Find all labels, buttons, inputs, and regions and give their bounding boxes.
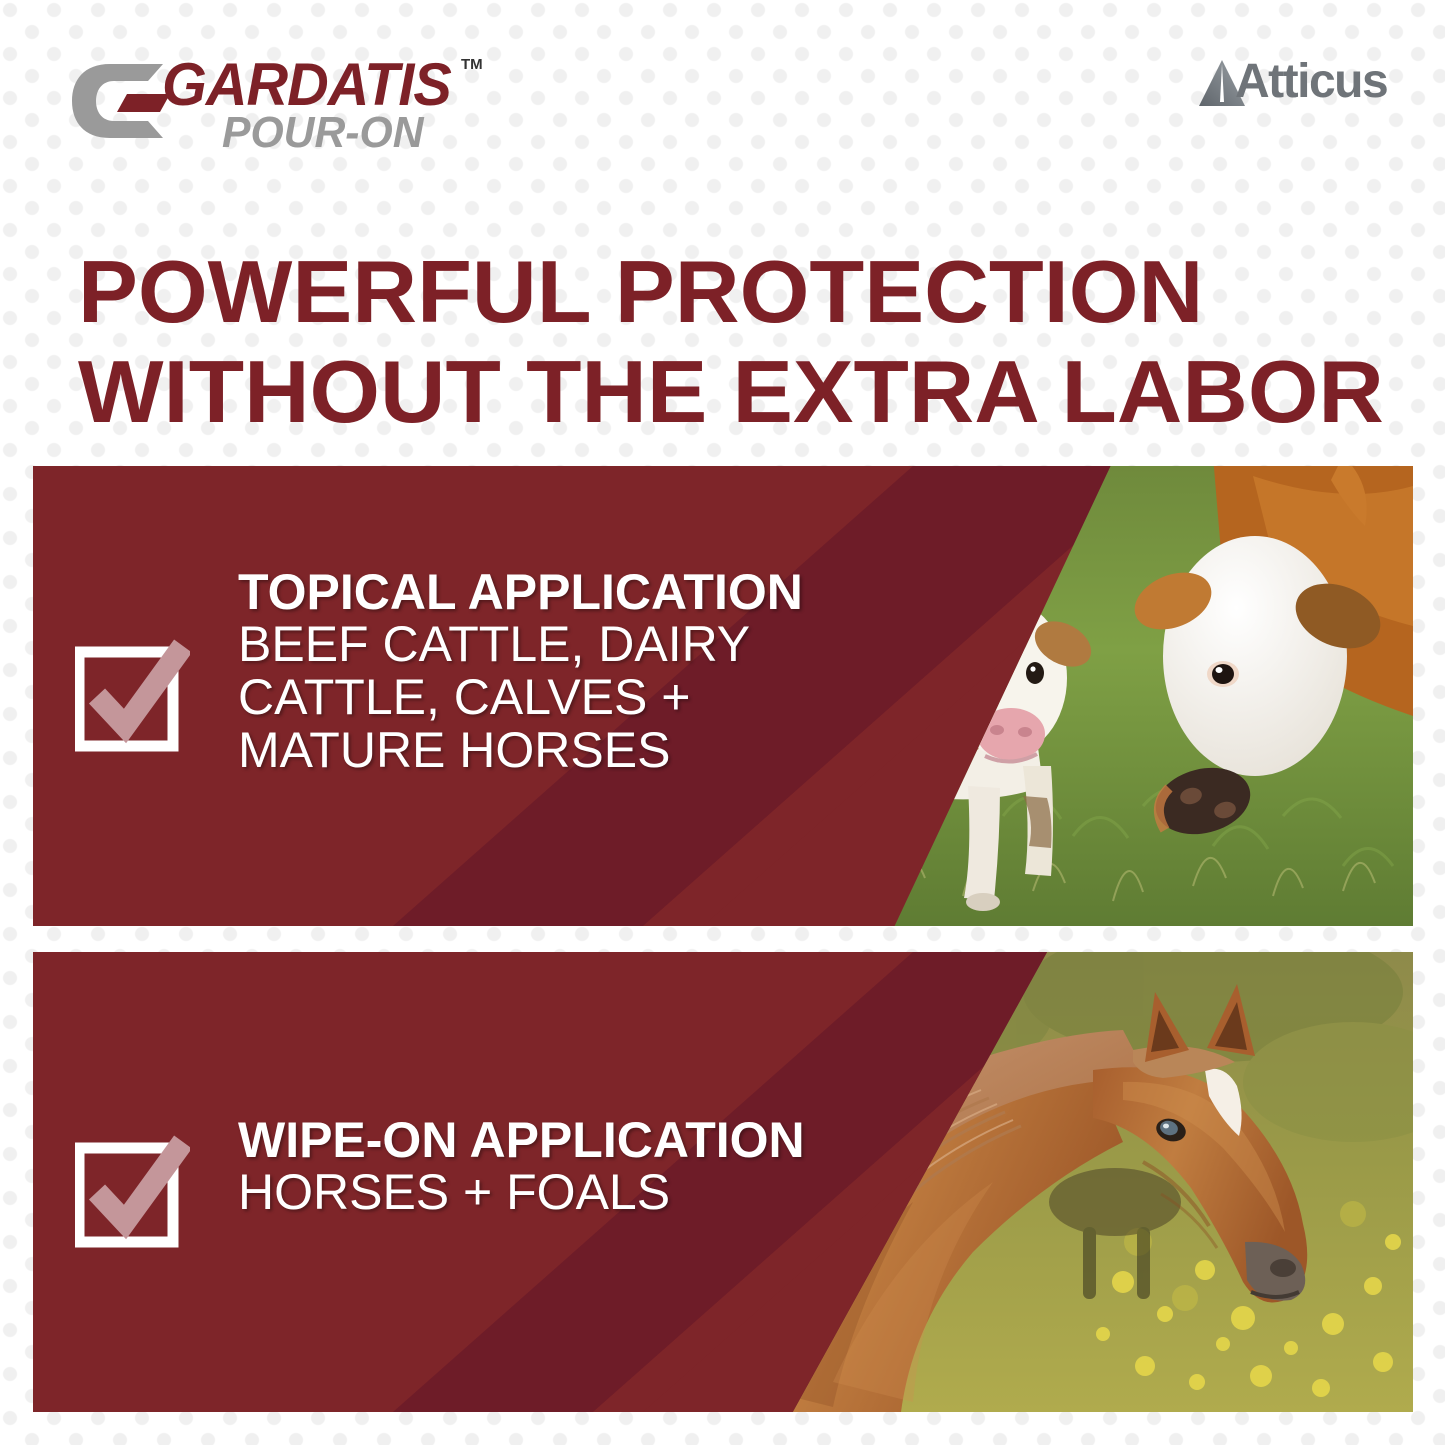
panel-1-text-block: TOPICAL APPLICATION BEEF CATTLE, DAIRY C… <box>238 566 803 777</box>
panel-2-sub-line-1: HORSES + FOALS <box>238 1166 805 1219</box>
panel-1-sub-line-2: CATTLE, CALVES + <box>238 671 803 724</box>
panel-2-text-block: WIPE-ON APPLICATION HORSES + FOALS <box>238 1114 805 1219</box>
headline-line-1: POWERFUL PROTECTION <box>78 248 1414 336</box>
panel-photo-cow-and-calf <box>873 466 1413 926</box>
atticus-company-logo: Atticus <box>1197 56 1397 110</box>
checkbox-checked-icon <box>75 638 190 753</box>
feature-panel-topical-application: TOPICAL APPLICATION BEEF CATTLE, DAIRY C… <box>33 466 1413 926</box>
feature-panel-wipe-on-application: WIPE-ON APPLICATION HORSES + FOALS <box>33 952 1413 1412</box>
panel-1-sub-line-3: MATURE HORSES <box>238 724 803 777</box>
gardatis-g-mark-icon <box>70 62 175 140</box>
checkbox-checked-icon <box>75 1134 190 1249</box>
panel-2-heading: WIPE-ON APPLICATION <box>238 1114 805 1166</box>
headline-line-2: WITHOUT THE EXTRA LABOR <box>78 348 1427 436</box>
gardatis-trademark: TM <box>461 56 483 73</box>
panel-1-sub-line-1: BEEF CATTLE, DAIRY <box>238 618 803 671</box>
panel-2-subtext: HORSES + FOALS <box>238 1166 805 1219</box>
atticus-name: Atticus <box>1235 54 1387 109</box>
page-title: POWERFUL PROTECTION WITHOUT THE EXTRA LA… <box>78 248 1388 448</box>
gardatis-subtitle: POUR-ON <box>222 108 424 158</box>
panel-1-subtext: BEEF CATTLE, DAIRY CATTLE, CALVES + MATU… <box>238 618 803 777</box>
gardatis-wordmark: GARDATIS TM POUR-ON <box>162 52 502 157</box>
panel-photo-horse <box>793 952 1413 1412</box>
gardatis-product-logo: GARDATIS TM POUR-ON <box>70 52 500 157</box>
panel-1-heading: TOPICAL APPLICATION <box>238 566 803 618</box>
header: GARDATIS TM POUR-ON Atticus <box>0 0 1445 200</box>
promo-graphic: GARDATIS TM POUR-ON Atticus POWERFUL P <box>0 0 1445 1445</box>
